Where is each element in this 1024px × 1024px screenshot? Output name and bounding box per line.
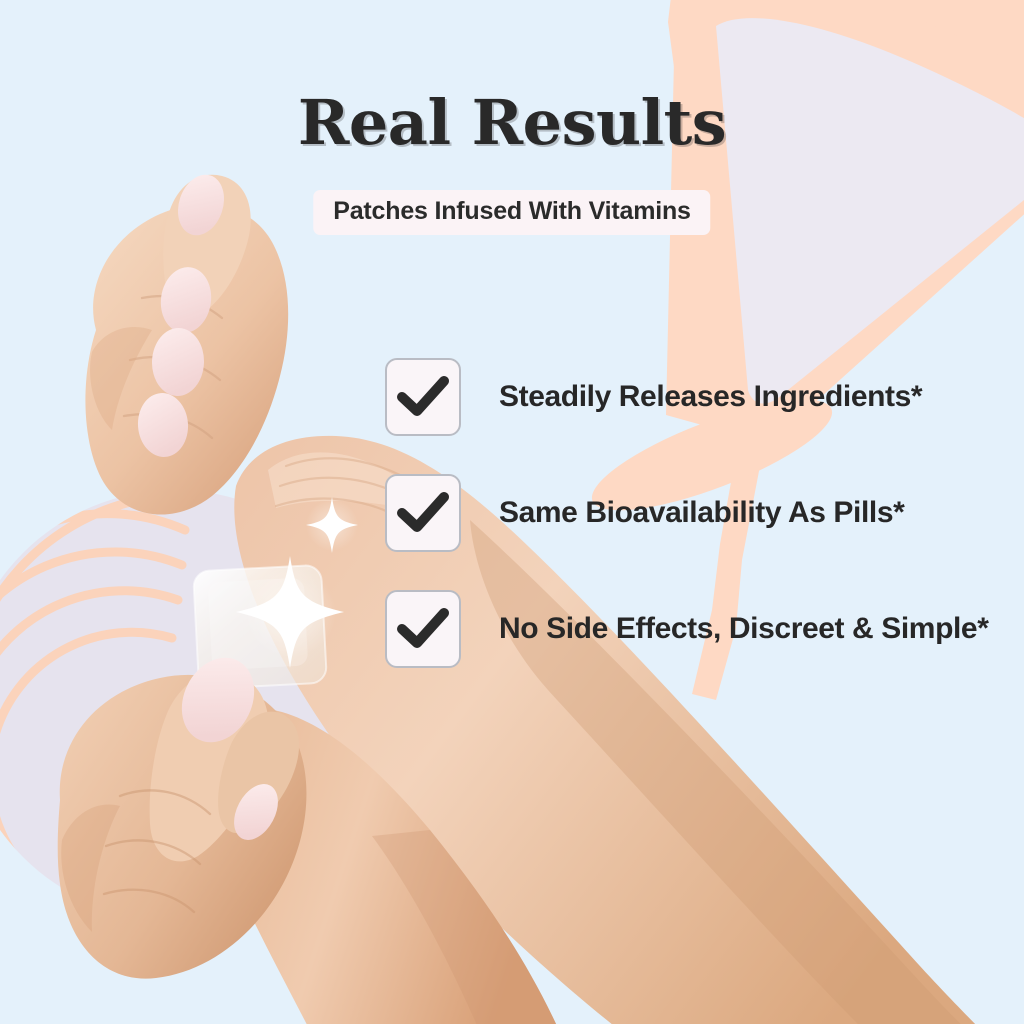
page-title: Real Results [298, 92, 726, 154]
nail [168, 646, 268, 755]
checkmark-icon [397, 492, 449, 534]
nail [136, 391, 190, 458]
nail [170, 169, 231, 242]
header-block: Real Results [0, 92, 1024, 154]
list-item: No Side Effects, Discreet & Simple* [385, 590, 989, 668]
second-forearm [194, 709, 566, 1024]
vitamin-patch [193, 565, 327, 690]
sparkle-large [236, 556, 344, 668]
sparkle-small [306, 497, 358, 553]
list-item: Steadily Releases Ingredients* [385, 358, 989, 436]
nail [157, 264, 216, 336]
benefits-checklist: Steadily Releases Ingredients* Same Bioa… [385, 358, 989, 668]
peach-arc-rings [0, 495, 190, 912]
poster-canvas: Real Results Patches Infused With Vitami… [0, 0, 1024, 1024]
nail [151, 327, 205, 397]
list-item-label: No Side Effects, Discreet & Simple* [499, 614, 989, 644]
list-item-label: Same Bioavailability As Pills* [499, 498, 904, 528]
nail [225, 777, 287, 848]
page-subtitle: Patches Infused With Vitamins [333, 199, 690, 224]
list-item-label: Steadily Releases Ingredients* [499, 382, 922, 412]
checkbox-2[interactable] [385, 474, 461, 552]
lower-hand-pressing-patch [58, 646, 307, 979]
list-item: Same Bioavailability As Pills* [385, 474, 989, 552]
checkbox-3[interactable] [385, 590, 461, 668]
upper-hand-fist [85, 169, 288, 515]
checkbox-1[interactable] [385, 358, 461, 436]
checkmark-icon [397, 376, 449, 418]
subtitle-pill: Patches Infused With Vitamins [313, 190, 710, 235]
lavender-circle [0, 490, 390, 920]
checkmark-icon [397, 608, 449, 650]
